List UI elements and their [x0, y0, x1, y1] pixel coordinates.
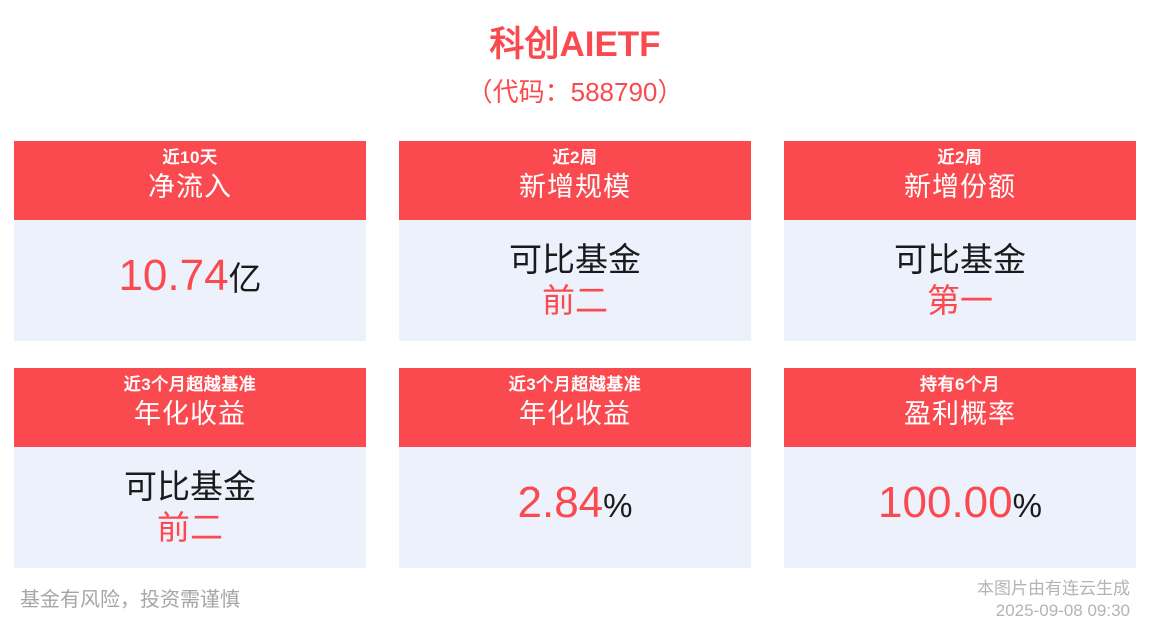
stat-card[interactable]: 持有6个月 盈利概率 100.00%: [784, 368, 1136, 568]
stat-card[interactable]: 近3个月超越基准 年化收益 可比基金 前二: [14, 368, 366, 568]
page-footer: 基金有风险，投资需谨慎 本图片由有连云生成 2025-09-08 09:30: [0, 568, 1150, 632]
stat-rank-label: 可比基金: [509, 240, 641, 280]
stat-card-title: 净流入: [14, 169, 366, 205]
image-source-label: 本图片由有连云生成: [977, 578, 1130, 600]
stat-value: 2.84: [518, 478, 604, 527]
stat-rank-value: 前二: [542, 280, 608, 322]
fund-code-subtitle: （代码：588790）: [0, 74, 1150, 110]
stat-rank-label: 可比基金: [124, 467, 256, 507]
stat-unit: %: [603, 487, 632, 524]
stat-card-subtitle: 近10天: [14, 147, 366, 169]
stat-card-body: 2.84%: [399, 447, 751, 568]
stat-value-line: 10.74亿: [118, 248, 261, 314]
stat-card-title: 年化收益: [14, 396, 366, 432]
stat-card[interactable]: 近2周 新增份额 可比基金 第一: [784, 141, 1136, 341]
stat-card-grid: 近10天 净流入 10.74亿 近2周 新增规模 可比基金 前二 近2周 新增: [14, 141, 1136, 568]
stat-value-line: 100.00%: [878, 475, 1042, 541]
page-title: 科创AIETF: [0, 22, 1150, 68]
stat-card-body: 可比基金 前二: [14, 447, 366, 568]
stat-value: 100.00: [878, 478, 1013, 527]
stat-card-header: 近2周 新增规模: [399, 141, 751, 220]
stat-card-header: 近2周 新增份额: [784, 141, 1136, 220]
page-title-block: 科创AIETF （代码：588790）: [0, 0, 1150, 110]
stat-card[interactable]: 近3个月超越基准 年化收益 2.84%: [399, 368, 751, 568]
stat-rank-value: 第一: [927, 280, 993, 322]
stat-card-title: 新增规模: [399, 169, 751, 205]
stat-card-body: 可比基金 第一: [784, 220, 1136, 341]
stat-unit: 亿: [229, 260, 262, 297]
stat-card-body: 可比基金 前二: [399, 220, 751, 341]
stat-unit: %: [1013, 487, 1042, 524]
stat-rank-value: 前二: [157, 507, 223, 549]
stat-value: 10.74: [118, 251, 228, 300]
stat-card-subtitle: 近2周: [784, 147, 1136, 169]
stat-card-title: 新增份额: [784, 169, 1136, 205]
stat-card-header: 近3个月超越基准 年化收益: [14, 368, 366, 447]
footer-meta: 本图片由有连云生成 2025-09-08 09:30: [977, 578, 1130, 622]
stat-card[interactable]: 近2周 新增规模 可比基金 前二: [399, 141, 751, 341]
stat-card-subtitle: 近3个月超越基准: [14, 374, 366, 396]
stat-card-header: 近3个月超越基准 年化收益: [399, 368, 751, 447]
stat-value-line: 2.84%: [518, 475, 633, 541]
generation-timestamp: 2025-09-08 09:30: [977, 600, 1130, 622]
stat-rank-label: 可比基金: [894, 240, 1026, 280]
stat-card-header: 持有6个月 盈利概率: [784, 368, 1136, 447]
stat-card-subtitle: 持有6个月: [784, 374, 1136, 396]
stat-card-title: 年化收益: [399, 396, 751, 432]
stat-card-body: 10.74亿: [14, 220, 366, 341]
stat-card-body: 100.00%: [784, 447, 1136, 568]
stat-card-title: 盈利概率: [784, 396, 1136, 432]
stat-card[interactable]: 近10天 净流入 10.74亿: [14, 141, 366, 341]
stat-card-subtitle: 近3个月超越基准: [399, 374, 751, 396]
risk-disclaimer: 基金有风险，投资需谨慎: [20, 587, 240, 613]
stat-card-subtitle: 近2周: [399, 147, 751, 169]
stat-card-header: 近10天 净流入: [14, 141, 366, 220]
